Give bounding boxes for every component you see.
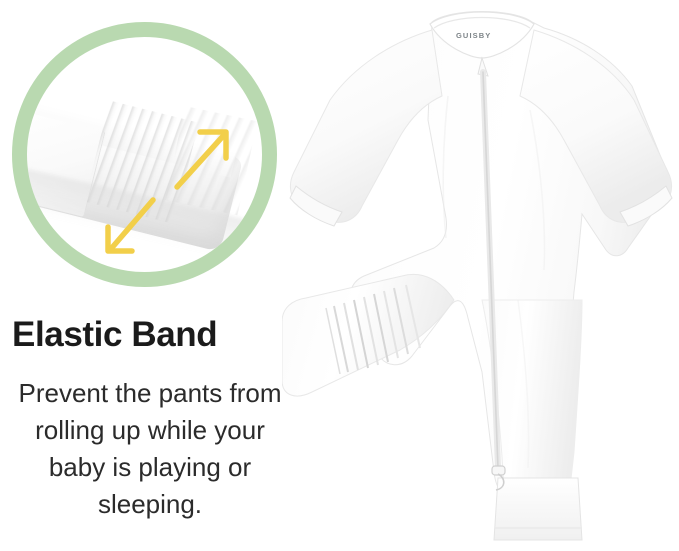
elastic-band-detail-callout [12, 22, 277, 287]
green-circle-ring [12, 22, 277, 287]
product-feature-image: Elastic Band Prevent the pants from roll… [0, 0, 679, 551]
product-photo-romper: GUISBY [282, 0, 679, 551]
feature-description: Prevent the pants from rolling up while … [4, 375, 296, 523]
brand-label: GUISBY [456, 31, 491, 40]
left-sleeve [290, 30, 442, 226]
right-ankle-cuff [494, 478, 582, 540]
page-title: Elastic Band [12, 317, 292, 354]
romper-illustration [282, 0, 679, 551]
